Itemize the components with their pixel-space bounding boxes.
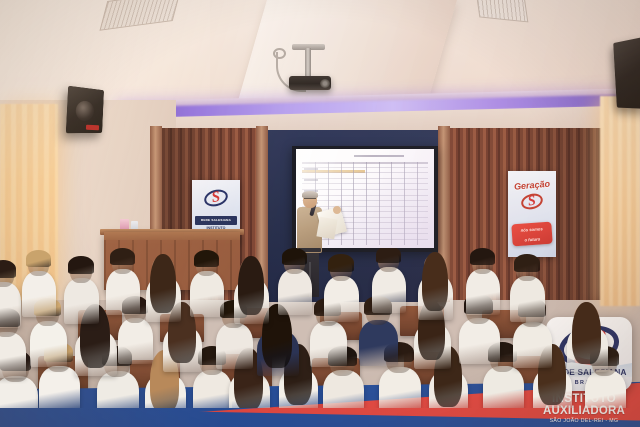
banner-headline: Geração — [514, 178, 555, 191]
audience-member-shoulders — [0, 332, 26, 378]
audience-member-hair — [328, 254, 354, 272]
audience-member-shoulders — [466, 269, 500, 315]
audience-member-shoulders — [372, 267, 406, 313]
audience-member-hair — [0, 260, 16, 278]
speaker-icon — [613, 37, 640, 109]
audience-member-shoulders — [118, 318, 154, 364]
audience-member — [240, 258, 262, 323]
audience-member — [28, 252, 49, 316]
audience-member-shoulders — [324, 276, 360, 322]
audience-member — [424, 254, 446, 319]
presenter-hair — [302, 191, 318, 198]
auditorium-photo: S REDE SALESIANA INSTITUTO AUXILIADORA G… — [0, 0, 640, 427]
audience-member — [516, 256, 538, 321]
audience-member-shoulders — [359, 320, 398, 366]
speaker-badge — [86, 125, 99, 131]
audience-member-shoulders — [64, 278, 100, 324]
audience-member-hair — [470, 248, 495, 265]
salesian-s-logo-icon: S — [203, 189, 229, 208]
audience-member — [472, 250, 493, 314]
salesian-s-logo-icon: S — [520, 193, 544, 211]
audience-member-hair — [282, 248, 307, 265]
banner-org-name: REDE SALESIANA — [195, 216, 237, 225]
audience-member-shoulders — [483, 366, 524, 408]
banner-org-bar: REDE SALESIANA — [195, 216, 237, 225]
audience-member-hair — [150, 254, 176, 313]
audience-member-shoulders — [22, 271, 56, 317]
audience-member-hair — [572, 302, 601, 364]
audience-member — [284, 250, 305, 314]
glasses-icon — [304, 198, 316, 201]
audience-member — [152, 256, 174, 321]
audience-member-hair — [376, 248, 401, 263]
audience-member — [378, 248, 399, 312]
audience-member-hair — [194, 250, 219, 267]
banner-badge: nós somos o futuro — [511, 222, 552, 247]
audience-member-hair — [26, 250, 51, 267]
audience-member — [0, 262, 14, 327]
audience-member — [574, 304, 599, 372]
audience-member-shoulders — [30, 321, 67, 367]
audience-member-shoulders — [323, 370, 364, 408]
audience-member-hair — [238, 256, 264, 315]
institute-location: SÃO JOÃO DEL-REI - MG — [538, 417, 630, 425]
audience-member-shoulders — [190, 271, 224, 317]
audience-member — [112, 250, 133, 314]
audience-member-shoulders — [510, 276, 546, 322]
air-vent-icon — [476, 0, 529, 22]
audience-member-shoulders — [39, 366, 80, 408]
audience-member-hair — [110, 248, 135, 265]
audience — [0, 248, 640, 408]
audience-member-shoulders — [379, 367, 421, 408]
audience-member-hair — [68, 256, 94, 274]
projector-lens-icon — [320, 79, 330, 88]
audience-member-hair — [514, 254, 540, 272]
audience-member-shoulders — [459, 318, 500, 364]
audience-member — [330, 256, 352, 321]
wall-banner-right: Geração S nós somos o futuro — [508, 171, 556, 257]
presenter-hand — [333, 206, 341, 214]
audience-member-hair — [422, 252, 448, 311]
audience-member-shoulders — [278, 269, 312, 315]
audience-member — [70, 258, 92, 323]
audience-member-shoulders — [216, 323, 253, 369]
audience-member-shoulders — [513, 322, 552, 368]
audience-member-shoulders — [106, 269, 140, 315]
banner-badge-line2: o futuro — [512, 232, 553, 245]
presenter-papers — [316, 217, 337, 240]
projector-mount-pole — [305, 48, 311, 78]
audience-member-shoulders — [585, 370, 626, 408]
audience-member — [196, 252, 217, 316]
audience-member-shoulders — [0, 282, 21, 328]
audience-member-shoulders — [193, 370, 232, 408]
audience-member-shoulders — [310, 321, 347, 367]
